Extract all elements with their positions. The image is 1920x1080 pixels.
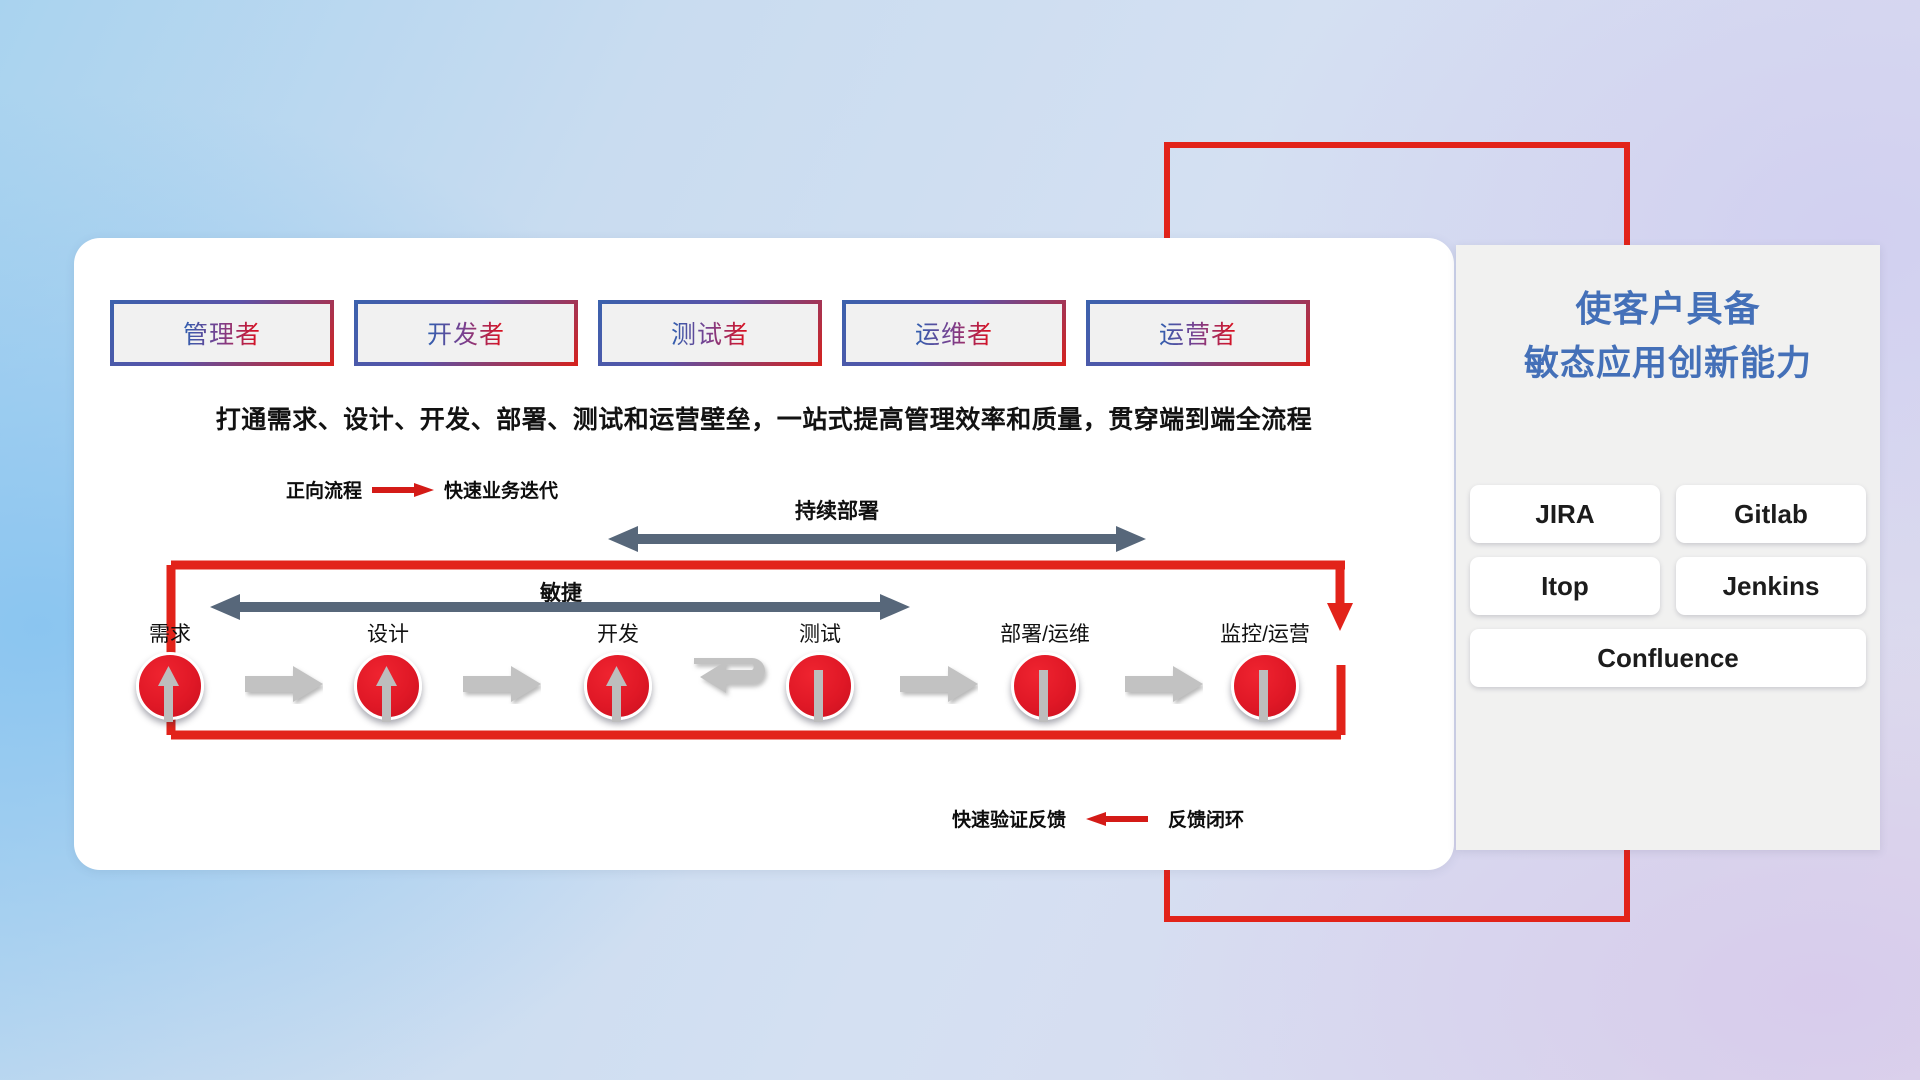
role-label: 测试者 [671,315,749,351]
tools-grid: JIRA Gitlab Itop Jenkins Confluence [1470,485,1866,687]
role-label: 管理者 [183,315,261,351]
stage-label: 需求 [110,618,230,648]
stage-label: 设计 [328,618,448,648]
role-chip-2[interactable]: 测试者 [598,300,822,366]
slide-canvas: 管理者 开发者 测试者 运维者 运营者 打通需求、设计、开发、部署、测试和运营壁… [0,0,1920,1080]
stage-label: 测试 [760,618,880,648]
role-chip-0[interactable]: 管理者 [110,300,334,366]
roles-row: 管理者 开发者 测试者 运维者 运营者 [110,300,1310,366]
feedback-to-label: 快速验证反馈 [952,805,1066,832]
stage-connector-stems [110,660,1430,740]
feedback-from-label: 反馈闭环 [1168,805,1244,832]
stage-label: 部署/运维 [985,618,1105,648]
right-side-panel: 使客户具备 敏态应用创新能力 JIRA Gitlab Itop Jenkins … [1456,245,1880,850]
tool-chip-gitlab[interactable]: Gitlab [1676,485,1866,543]
forward-flow-legend: 正向流程 快速业务迭代 [286,476,558,503]
red-arrow-right-icon [372,483,434,496]
feedback-loop-legend: 快速验证反馈 反馈闭环 [952,805,1244,832]
panel-title: 使客户具备 敏态应用创新能力 [1456,281,1880,391]
role-chip-4[interactable]: 运营者 [1086,300,1310,366]
forward-flow-to-label: 快速业务迭代 [444,476,558,503]
headline-text: 打通需求、设计、开发、部署、测试和运营壁垒，一站式提高管理效率和质量，贯穿端到端… [74,400,1454,436]
role-chip-3[interactable]: 运维者 [842,300,1066,366]
tool-chip-confluence[interactable]: Confluence [1470,629,1866,687]
role-chip-1[interactable]: 开发者 [354,300,578,366]
role-label: 开发者 [427,315,505,351]
band-label-continuous-deployment: 持续部署 [795,495,879,525]
stage-label: 监控/运营 [1205,618,1325,648]
forward-flow-from-label: 正向流程 [286,476,362,503]
role-label: 运营者 [1159,315,1237,351]
continuous-deployment-arrow [608,524,1146,554]
panel-title-line-1: 使客户具备 [1456,281,1880,337]
tool-chip-jenkins[interactable]: Jenkins [1676,557,1866,615]
tool-chip-jira[interactable]: JIRA [1470,485,1660,543]
tool-chip-itop[interactable]: Itop [1470,557,1660,615]
role-label: 运维者 [915,315,993,351]
panel-title-line-2: 敏态应用创新能力 [1456,337,1880,391]
red-arrow-left-icon [1086,812,1148,825]
stage-label: 开发 [558,618,678,648]
